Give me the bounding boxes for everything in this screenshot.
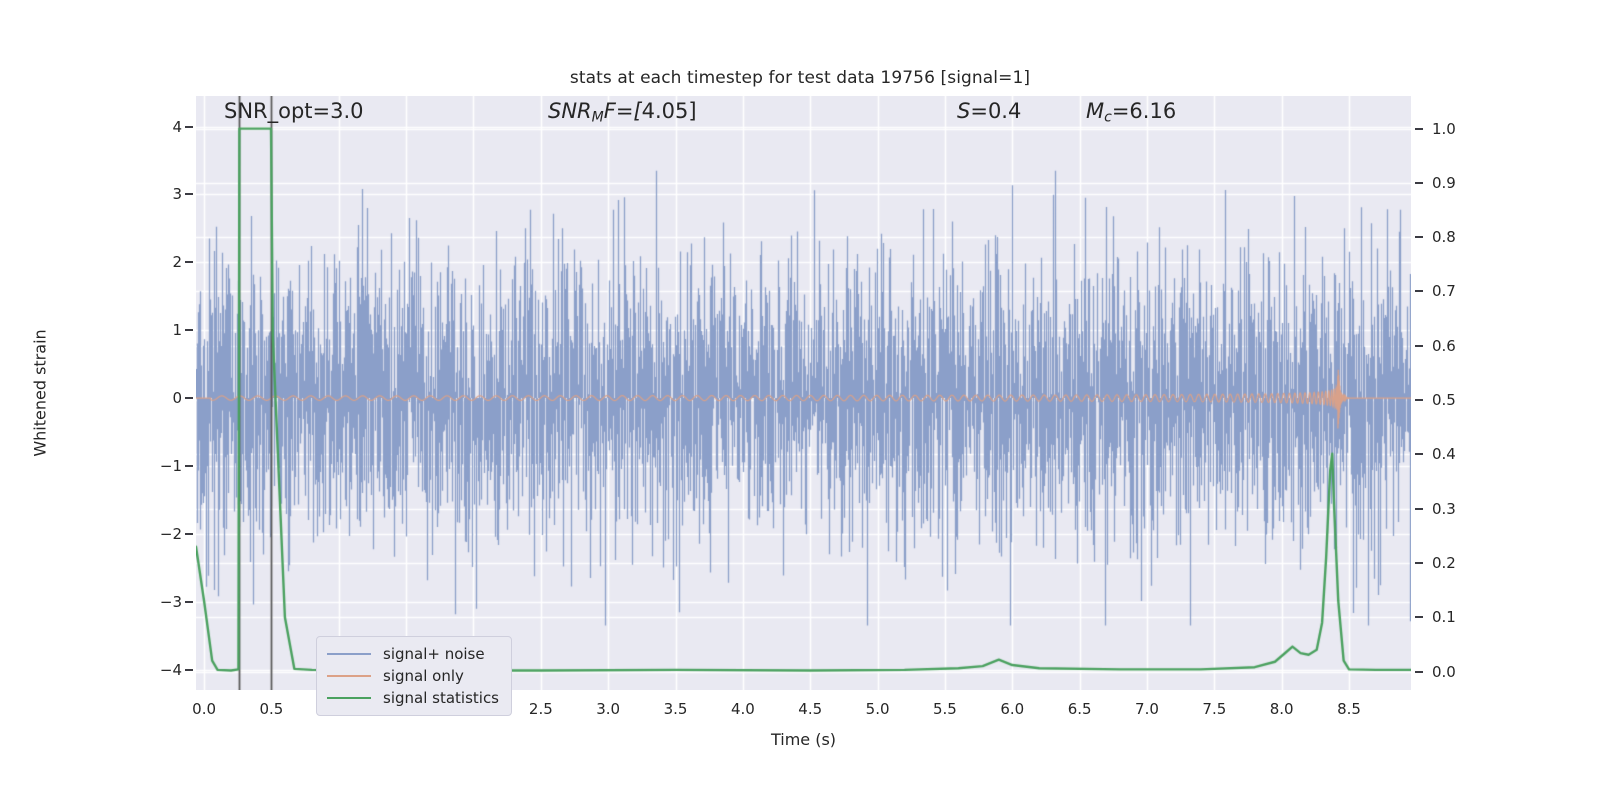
- y-axis-right-tick-mark: [1415, 128, 1423, 130]
- x-axis-tick-label: 5.5: [933, 700, 957, 718]
- y-axis-right-tick-mark: [1415, 182, 1423, 184]
- annotation-snr-mf-subscript: M: [592, 110, 604, 126]
- y-axis-left-tick-label: −4: [160, 661, 182, 679]
- legend-swatch-0: [327, 653, 371, 655]
- annotation-s-value: =0.4: [970, 99, 1021, 123]
- y-axis-right-tick-mark: [1415, 616, 1423, 618]
- y-axis-left-tick-mark: [185, 533, 193, 535]
- y-axis-left-tick-mark: [185, 601, 193, 603]
- x-axis-tick-label: 0.5: [259, 700, 283, 718]
- y-axis-right-tick-mark: [1415, 671, 1423, 673]
- y-axis-left-tick-mark: [185, 193, 193, 195]
- legend-swatch-2: [327, 697, 371, 699]
- y-axis-left-tick-label: −1: [160, 457, 182, 475]
- plot-canvas: [196, 96, 1411, 690]
- x-axis-tick-label: 0.0: [192, 700, 216, 718]
- legend-item[interactable]: signal statistics: [327, 687, 499, 709]
- y-axis-right-tick-label: 0.3: [1432, 500, 1456, 518]
- x-axis-tick-label: 5.0: [866, 700, 890, 718]
- annotation-s-stat: S=0.4: [957, 99, 1021, 123]
- y-axis-left-tick-label: 4: [172, 118, 182, 136]
- y-axis-right-tick-label: 0.0: [1432, 663, 1456, 681]
- annotation-chirp-mass: Mc=6.16: [1086, 99, 1176, 126]
- y-axis-left-tick-label: 2: [172, 253, 182, 271]
- y-axis-right-tick-label: 1.0: [1432, 120, 1456, 138]
- x-axis-tick-label: 4.0: [731, 700, 755, 718]
- annotation-mc-subscript: c: [1104, 110, 1112, 126]
- y-axis-right-tick-label: 0.1: [1432, 608, 1456, 626]
- y-axis-right-tick-mark: [1415, 453, 1423, 455]
- legend-item[interactable]: signal+ noise: [327, 643, 499, 665]
- y-axis-left-tick-mark: [185, 465, 193, 467]
- figure-canvas: stats at each timestep for test data 197…: [0, 0, 1600, 800]
- y-axis-right-tick-label: 0.5: [1432, 391, 1456, 409]
- y-axis-left-tick-label: 3: [172, 185, 182, 203]
- annotation-s-prefix: S: [957, 99, 970, 123]
- x-axis-tick-label: 7.0: [1135, 700, 1159, 718]
- legend-label: signal statistics: [383, 689, 499, 707]
- y-axis-right-tick-label: 0.9: [1432, 174, 1456, 192]
- y-axis-left-tick-label: 1: [172, 321, 182, 339]
- legend-item[interactable]: signal only: [327, 665, 499, 687]
- y-axis-right-tick-mark: [1415, 290, 1423, 292]
- y-axis-left-label: Whitened strain: [31, 243, 50, 543]
- annotation-mc-prefix: M: [1086, 99, 1104, 123]
- y-axis-left-tick-label: −2: [160, 525, 182, 543]
- x-axis-tick-label: 7.5: [1202, 700, 1226, 718]
- y-axis-left-tick-mark: [185, 329, 193, 331]
- y-axis-right-tick-label: 0.7: [1432, 282, 1456, 300]
- annotation-snr-mf: SNRMF=[4.05]: [548, 99, 697, 126]
- y-axis-right-tick-label: 0.2: [1432, 554, 1456, 572]
- y-axis-right-tick-label: 0.6: [1432, 337, 1456, 355]
- x-axis-tick-label: 8.0: [1270, 700, 1294, 718]
- y-axis-right-tick-mark: [1415, 399, 1423, 401]
- annotation-mc-value: =6.16: [1112, 99, 1176, 123]
- y-axis-right-tick-mark: [1415, 562, 1423, 564]
- x-axis-tick-label: 8.5: [1337, 700, 1361, 718]
- x-axis-tick-label: 3.5: [664, 700, 688, 718]
- x-axis-tick-label: 6.0: [1000, 700, 1024, 718]
- y-axis-right-tick-mark: [1415, 236, 1423, 238]
- annotation-snr-mf-prefix: SNR: [548, 99, 592, 123]
- plot-area[interactable]: [196, 96, 1411, 690]
- annotation-snr-opt-value: 3.0: [330, 99, 363, 123]
- legend-label: signal only: [383, 667, 464, 685]
- y-axis-right-tick-mark: [1415, 345, 1423, 347]
- x-axis-tick-label: 6.5: [1068, 700, 1092, 718]
- y-axis-left-tick-label: −3: [160, 593, 182, 611]
- annotation-snr-mf-suffix: ]: [688, 99, 696, 123]
- y-axis-left-tick-mark: [185, 669, 193, 671]
- y-axis-right-tick-label: 0.4: [1432, 445, 1456, 463]
- y-axis-left-tick-mark: [185, 126, 193, 128]
- y-axis-left-tick-mark: [185, 261, 193, 263]
- annotation-snr-opt: SNR_opt=3.0: [224, 99, 364, 123]
- x-axis-tick-label: 4.5: [798, 700, 822, 718]
- annotation-snr-opt-text: SNR_opt=: [224, 99, 330, 123]
- legend-label: signal+ noise: [383, 645, 485, 663]
- annotation-snr-mf-value: 4.05: [642, 99, 689, 123]
- chart-title: stats at each timestep for test data 197…: [0, 68, 1600, 88]
- y-axis-left-tick-label: 0: [172, 389, 182, 407]
- x-axis-label: Time (s): [196, 730, 1411, 749]
- y-axis-right-tick-mark: [1415, 508, 1423, 510]
- legend-swatch-1: [327, 675, 371, 677]
- x-axis-tick-label: 3.0: [596, 700, 620, 718]
- annotation-snr-mf-mid: F=[: [604, 99, 642, 123]
- x-axis-tick-label: 2.5: [529, 700, 553, 718]
- y-axis-left-tick-mark: [185, 397, 193, 399]
- legend[interactable]: signal+ noisesignal onlysignal statistic…: [316, 636, 512, 716]
- y-axis-right-tick-label: 0.8: [1432, 228, 1456, 246]
